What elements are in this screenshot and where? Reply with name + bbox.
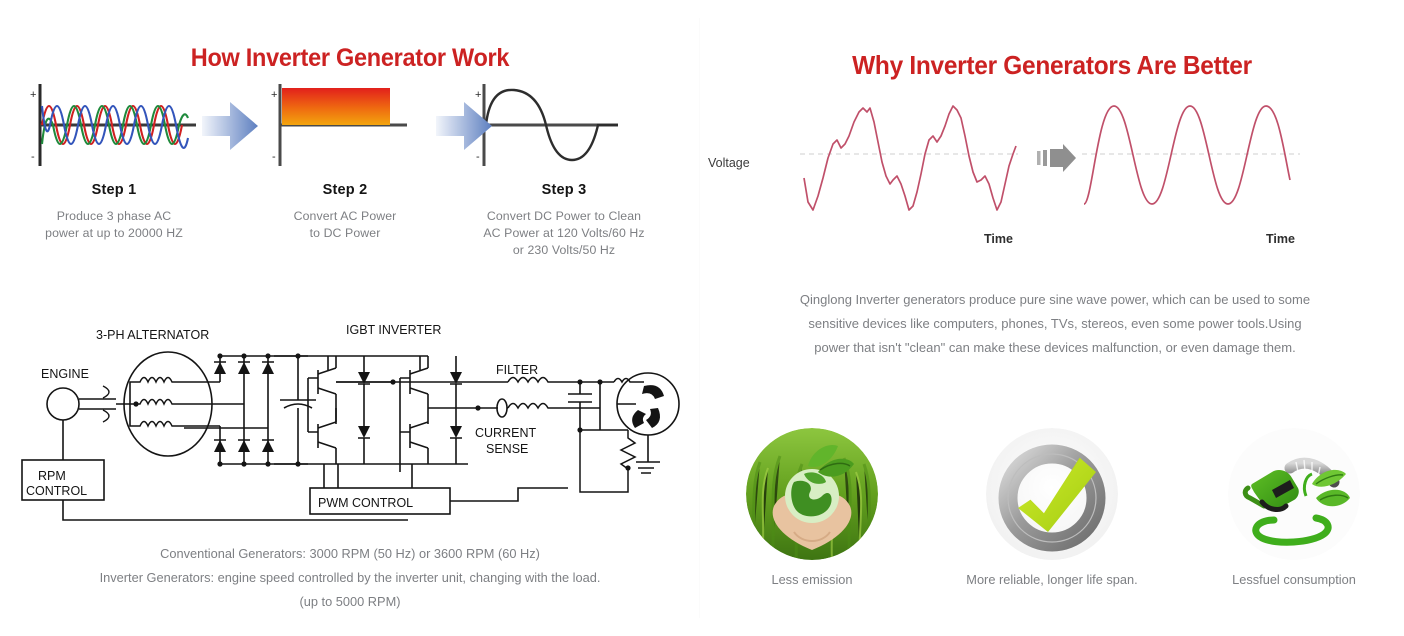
benefit-less-emission: Less emission [712, 428, 912, 587]
green-checkmark-icon [986, 428, 1118, 560]
pure-sine-waveform-icon [1082, 92, 1300, 222]
benefit-label-2: Lessfuel consumption [1194, 572, 1394, 587]
step-2-label: Step 2 [262, 182, 428, 198]
step-3-description: Convert DC Power to Clean AC Power at 12… [466, 208, 662, 259]
benefit-label-0: Less emission [712, 572, 912, 587]
right-panel: Why Inverter Generators Are Better Volta… [700, 0, 1404, 636]
step-1-description: Produce 3 phase AC power at up to 20000 … [18, 208, 210, 242]
benefit-label-1: More reliable, longer life span. [952, 572, 1152, 587]
step-2-description: Convert AC Power to DC Power [262, 208, 428, 242]
arrow-right-icon-2 [434, 98, 496, 154]
hands-holding-earth-icon [746, 428, 878, 560]
caption-line-3: (up to 5000 RPM) [0, 590, 700, 614]
left-panel-title: How Inverter Generator Work [21, 44, 679, 73]
svg-text:+: + [30, 89, 36, 101]
current-sense-line1: CURRENT [475, 426, 536, 440]
rpm-control-line2: CONTROL [26, 484, 87, 498]
right-panel-title: Why Inverter Generators Are Better [721, 50, 1383, 81]
paragraph-line-3: power that isn't "clean" can make these … [760, 336, 1350, 360]
steps-row: + - Step 1 Produce 3 phase AC power at u… [0, 78, 700, 268]
waveform-comparison-chart: Voltage Time [800, 92, 1340, 242]
step-1: + - Step 1 Produce 3 phase AC power at u… [18, 78, 210, 242]
paragraph-line-2: sensitive devices like computers, phones… [760, 312, 1350, 336]
circuit-captions: Conventional Generators: 3000 RPM (50 Hz… [0, 542, 700, 614]
alternator-label: 3-PH ALTERNATOR [96, 328, 209, 342]
caption-line-2: Inverter Generators: engine speed contro… [0, 566, 700, 590]
svg-text:+: + [271, 89, 277, 101]
infographic-page: How Inverter Generator Work + - [0, 0, 1404, 636]
current-sense-line2: SENSE [486, 442, 528, 456]
left-panel: How Inverter Generator Work + - [0, 0, 700, 636]
svg-text:-: - [272, 151, 276, 163]
paragraph-line-1: Qinglong Inverter generators produce pur… [760, 288, 1350, 312]
dc-power-block-icon: + - [262, 78, 428, 170]
step-1-label: Step 1 [18, 182, 210, 198]
igbt-inverter-label: IGBT INVERTER [346, 323, 441, 337]
step-3-label: Step 3 [466, 182, 662, 198]
svg-text:-: - [31, 151, 35, 163]
time-axis-label-left: Time [984, 232, 1013, 246]
arrow-right-icon-transition [1037, 144, 1077, 172]
filter-label: FILTER [496, 363, 538, 377]
time-axis-label-right: Time [1266, 232, 1295, 246]
voltage-axis-label: Voltage [708, 156, 750, 170]
inverter-circuit-diagram: ENGINE 3-PH ALTERNATOR IGBT INVERTER FIL… [8, 312, 688, 534]
right-panel-paragraph: Qinglong Inverter generators produce pur… [760, 288, 1350, 360]
engine-label: ENGINE [41, 367, 89, 381]
three-phase-ac-waveform-icon: + - [18, 78, 210, 170]
rpm-control-line1: RPM [38, 469, 66, 483]
distorted-waveform-icon [800, 92, 1018, 222]
benefit-less-fuel: Lessfuel consumption [1194, 428, 1394, 587]
fuel-nozzle-leaf-icon [1228, 428, 1360, 560]
benefit-more-reliable: More reliable, longer life span. [952, 428, 1152, 587]
step-2: + - Step 2 Convert AC Power to DC Power [262, 78, 428, 242]
caption-line-1: Conventional Generators: 3000 RPM (50 Hz… [0, 542, 700, 566]
pwm-control-label: PWM CONTROL [318, 496, 413, 510]
arrow-right-icon-1 [200, 98, 262, 154]
benefits-row: Less emission [700, 428, 1404, 598]
